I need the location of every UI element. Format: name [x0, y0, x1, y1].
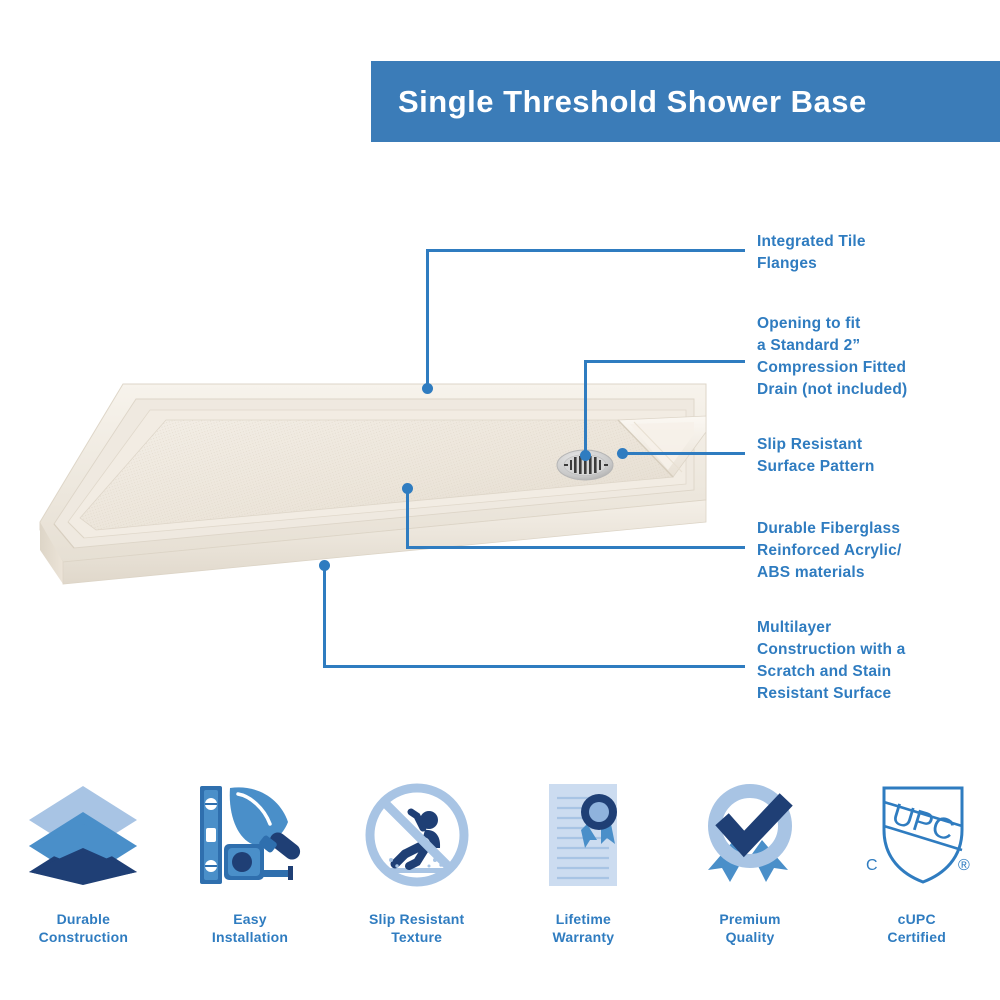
feature-label-line: Installation — [212, 929, 288, 947]
feature-lifetime-warranty: Lifetime Warranty — [500, 775, 667, 975]
feature-label: Lifetime Warranty — [552, 911, 614, 947]
feature-label-line: Lifetime — [552, 911, 614, 929]
feature-label-line: Texture — [369, 929, 464, 947]
leader-vertical — [426, 249, 429, 389]
leader-horizontal — [406, 546, 745, 549]
callout-drain-opening: Opening to fit a Standard 2” Compression… — [757, 313, 972, 401]
level-trowel-icon — [194, 775, 306, 895]
layers-icon — [27, 775, 139, 895]
leader-vertical — [406, 488, 409, 548]
feature-label: Easy Installation — [212, 911, 288, 947]
feature-label: cUPC Certified — [887, 911, 946, 947]
callout-line: ABS materials — [757, 562, 972, 584]
upc-shield-label: UPC — [888, 798, 958, 848]
feature-premium-quality: Premium Quality — [667, 775, 834, 975]
feature-label-line: Slip Resistant — [369, 911, 464, 929]
callout-line: Durable Fiberglass — [757, 518, 972, 540]
feature-slip-resistant: Slip Resistant Texture — [333, 775, 500, 975]
feature-label-line: Premium — [719, 911, 780, 929]
shower-base-svg — [18, 372, 718, 592]
feature-label-line: Durable — [39, 911, 129, 929]
shower-base-illustration — [18, 372, 718, 592]
callout-line: Surface Pattern — [757, 456, 972, 478]
feature-label: Premium Quality — [719, 911, 780, 947]
callout-line: Flanges — [757, 253, 972, 275]
leader-horizontal — [323, 665, 745, 668]
upc-right-mark: ® — [958, 857, 970, 874]
callout-line: Drain (not included) — [757, 379, 972, 401]
callout-line: Compression Fitted — [757, 357, 972, 379]
no-slip-icon — [361, 775, 473, 895]
callout-durable-materials: Durable Fiberglass Reinforced Acrylic/ A… — [757, 518, 972, 584]
callout-line: Multilayer — [757, 617, 972, 639]
callout-line: Construction with a — [757, 639, 972, 661]
check-rosette-icon — [694, 775, 806, 895]
feature-cupc-certified: UPC C ® cUPC Certified — [833, 775, 1000, 975]
callout-line: Scratch and Stain — [757, 661, 972, 683]
leader-horizontal — [625, 452, 745, 455]
feature-label-line: Quality — [719, 929, 780, 947]
callout-integrated-tile-flanges: Integrated Tile Flanges — [757, 231, 972, 275]
infographic-page: Single Threshold Shower Base — [0, 0, 1000, 1000]
callout-line: Slip Resistant — [757, 434, 972, 456]
feature-label: Durable Construction — [39, 911, 129, 947]
feature-strip: Durable Construction — [0, 775, 1000, 975]
title-banner: Single Threshold Shower Base — [371, 61, 1000, 142]
feature-easy-installation: Easy Installation — [167, 775, 334, 975]
leader-vertical — [323, 565, 326, 667]
callout-line: Reinforced Acrylic/ — [757, 540, 972, 562]
feature-label: Slip Resistant Texture — [369, 911, 464, 947]
feature-label-line: Warranty — [552, 929, 614, 947]
callout-line: a Standard 2” — [757, 335, 972, 357]
certificate-icon — [527, 775, 639, 895]
feature-label-line: Easy — [212, 911, 288, 929]
callout-multilayer-construction: Multilayer Construction with a Scratch a… — [757, 617, 972, 705]
leader-horizontal — [426, 249, 745, 252]
callout-line: Opening to fit — [757, 313, 972, 335]
upc-left-mark: C — [866, 857, 878, 874]
feature-durable-construction: Durable Construction — [0, 775, 167, 975]
page-title: Single Threshold Shower Base — [371, 84, 867, 120]
callout-line: Resistant Surface — [757, 683, 972, 705]
feature-label-line: Construction — [39, 929, 129, 947]
leader-horizontal — [584, 360, 745, 363]
leader-vertical — [584, 360, 587, 456]
feature-label-line: Certified — [887, 929, 946, 947]
callout-slip-resistant-surface: Slip Resistant Surface Pattern — [757, 434, 972, 478]
upc-shield-icon: UPC C ® — [858, 775, 976, 895]
callout-line: Integrated Tile — [757, 231, 972, 253]
feature-label-line: cUPC — [887, 911, 946, 929]
